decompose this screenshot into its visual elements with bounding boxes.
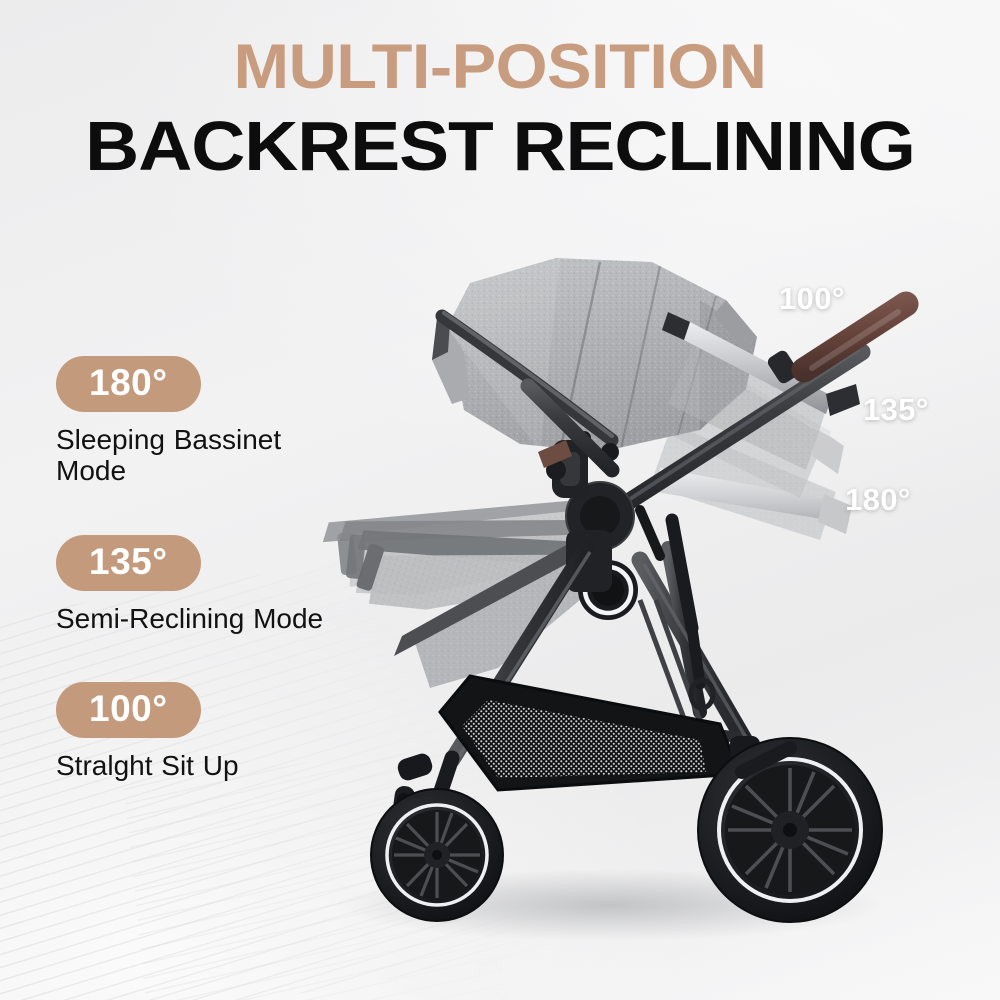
storage-basket (440, 676, 740, 790)
frame-hub (538, 431, 638, 620)
recline-legend: 180° Sleeping Bassinet Mode 135° Semi-Re… (56, 356, 356, 781)
callout-180: 180° (845, 482, 911, 518)
infographic-poster: MULTI-POSITION BACKREST RECLINING 180° S… (0, 0, 1000, 1000)
recline-dial-ring (585, 567, 631, 613)
rear-fork (730, 736, 782, 796)
title-line-2: BACKREST RECLINING (0, 111, 1000, 181)
legend-item-180: 180° Sleeping Bassinet Mode (56, 356, 356, 487)
stroller-canopy (430, 250, 770, 465)
front-wheel (371, 789, 503, 921)
ghost-positions-left (321, 473, 605, 665)
front-leg (452, 548, 586, 760)
legend-item-135: 135° Semi-Reclining Mode (56, 535, 356, 634)
callout-135: 135° (863, 392, 929, 428)
legend-item-100: 100° Stralght Sit Up (56, 682, 356, 781)
seat-fabric (394, 524, 604, 688)
legend-caption-180: Sleeping Bassinet Mode (56, 424, 346, 487)
heading-block: MULTI-POSITION BACKREST RECLINING (0, 36, 1000, 181)
angle-pill-135: 135° (56, 535, 201, 591)
canopy-bow (442, 316, 612, 440)
rear-leg (640, 560, 756, 760)
harness-straps (640, 510, 713, 708)
callout-100: 100° (779, 281, 845, 317)
floor-shadow (335, 869, 885, 941)
seat-backrest (662, 312, 860, 470)
legend-caption-100: Stralght Sit Up (56, 750, 346, 781)
angle-pill-180: 180° (56, 356, 201, 412)
angle-pill-100: 100° (56, 682, 201, 738)
front-fork (388, 751, 452, 845)
background-sweep-bottom-right (500, 740, 1000, 1000)
legend-caption-135: Semi-Reclining Mode (56, 603, 346, 634)
rear-wheel (698, 738, 882, 922)
frame-tubes (452, 386, 758, 760)
title-line-1: MULTI-POSITION (0, 36, 1000, 99)
ghost-positions-right (650, 350, 852, 540)
